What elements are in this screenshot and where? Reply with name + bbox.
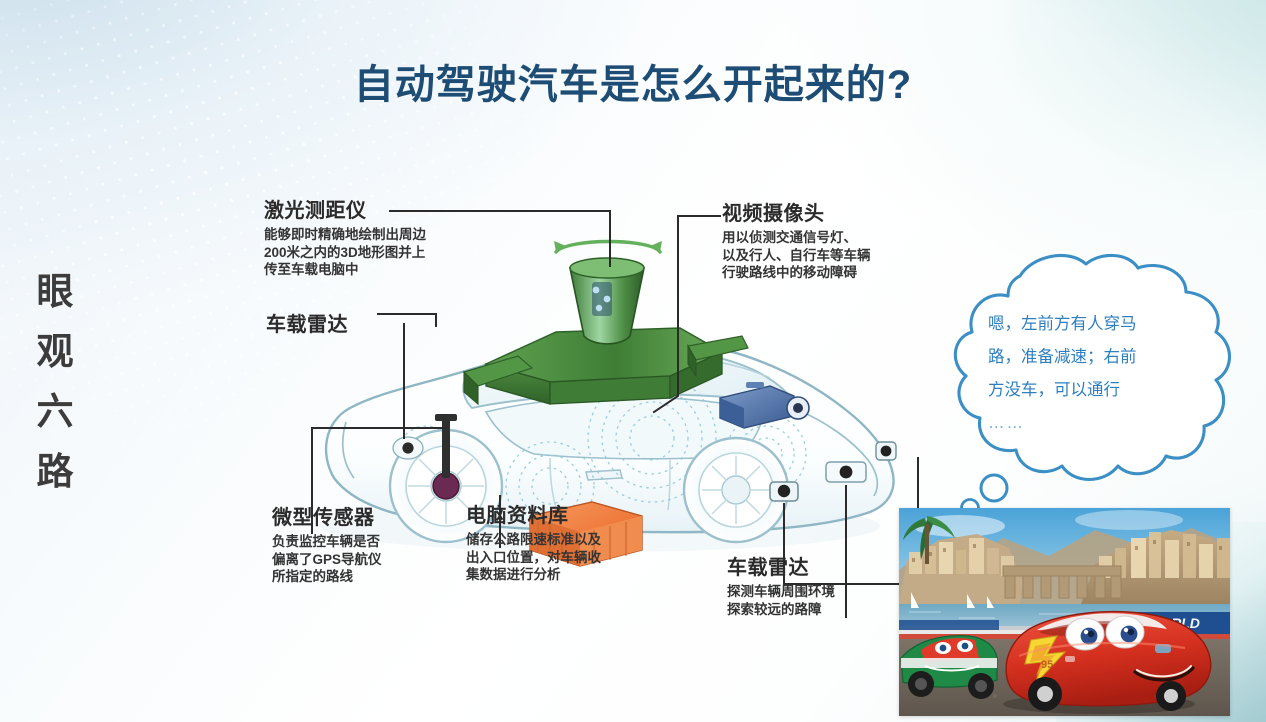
side-label-char-3: 六	[18, 382, 92, 442]
thought-line-3: 方没车，可以通行	[988, 374, 1188, 407]
thought-line-1: 嗯，左前方有人穿马	[988, 308, 1188, 341]
lidar-unit	[464, 241, 748, 404]
thought-bubble: 嗯，左前方有人穿马 路，准备减速；右前 方没车，可以通行 ……	[928, 252, 1238, 510]
rear-radar-sensor	[393, 437, 423, 459]
callout-camera-body: 用以侦测交通信号灯、 以及行人、自行车等车辆 行驶路线中的移动障碍	[722, 229, 871, 282]
callout-database-heading: 电脑资料库	[466, 505, 601, 528]
cars-movie-still: WORLD	[899, 508, 1230, 716]
callout-radar-top: 车载雷达	[266, 314, 348, 337]
page-title: 自动驾驶汽车是怎么开起来的?	[0, 52, 1266, 110]
callout-database: 电脑资料库 储存公路限速标准以及 出入口位置，对车辆收 集数据进行分析	[466, 505, 601, 584]
thought-bubble-text: 嗯，左前方有人穿马 路，准备减速；右前 方没车，可以通行 ……	[988, 308, 1188, 440]
slide-canvas: 自动驾驶汽车是怎么开起来的? 眼 观 六 路	[0, 0, 1266, 722]
thought-line-ellipsis: ……	[988, 407, 1188, 440]
side-label-vertical: 眼 观 六 路	[18, 262, 92, 502]
callout-camera: 视频摄像头 用以侦测交通信号灯、 以及行人、自行车等车辆 行驶路线中的移动障碍	[722, 203, 871, 282]
callout-radar-bottom-body: 探测车辆周围环境 探索较远的路障	[727, 583, 835, 618]
callout-micro-sensor-body: 负责监控车辆是否 偏离了GPS导航仪 所指定的路线	[272, 533, 382, 586]
callout-lidar-heading: 激光测距仪	[264, 200, 426, 223]
side-label-char-1: 眼	[18, 262, 92, 322]
callout-database-body: 储存公路限速标准以及 出入口位置，对车辆收 集数据进行分析	[466, 531, 601, 584]
callout-camera-heading: 视频摄像头	[722, 203, 871, 226]
callout-lidar-body: 能够即时精确地绘制出周边 200米之内的3D地形图并上 传至车载电脑中	[264, 226, 426, 279]
callout-micro-sensor-heading: 微型传感器	[272, 507, 382, 530]
callout-radar-bottom: 车载雷达 探测车辆周围环境 探索较远的路障	[727, 557, 835, 618]
svg-text:95: 95	[1041, 659, 1053, 671]
side-label-char-2: 观	[18, 322, 92, 382]
lightning-mcqueen: 95	[1003, 612, 1211, 714]
side-label-char-4: 路	[18, 442, 92, 502]
callout-micro-sensor: 微型传感器 负责监控车辆是否 偏离了GPS导航仪 所指定的路线	[272, 507, 382, 586]
thought-line-2: 路，准备减速；右前	[988, 341, 1188, 374]
callout-radar-top-heading: 车载雷达	[266, 314, 348, 337]
callout-lidar: 激光测距仪 能够即时精确地绘制出周边 200米之内的3D地形图并上 传至车载电脑…	[264, 200, 426, 279]
callout-radar-bottom-heading: 车载雷达	[727, 557, 835, 580]
